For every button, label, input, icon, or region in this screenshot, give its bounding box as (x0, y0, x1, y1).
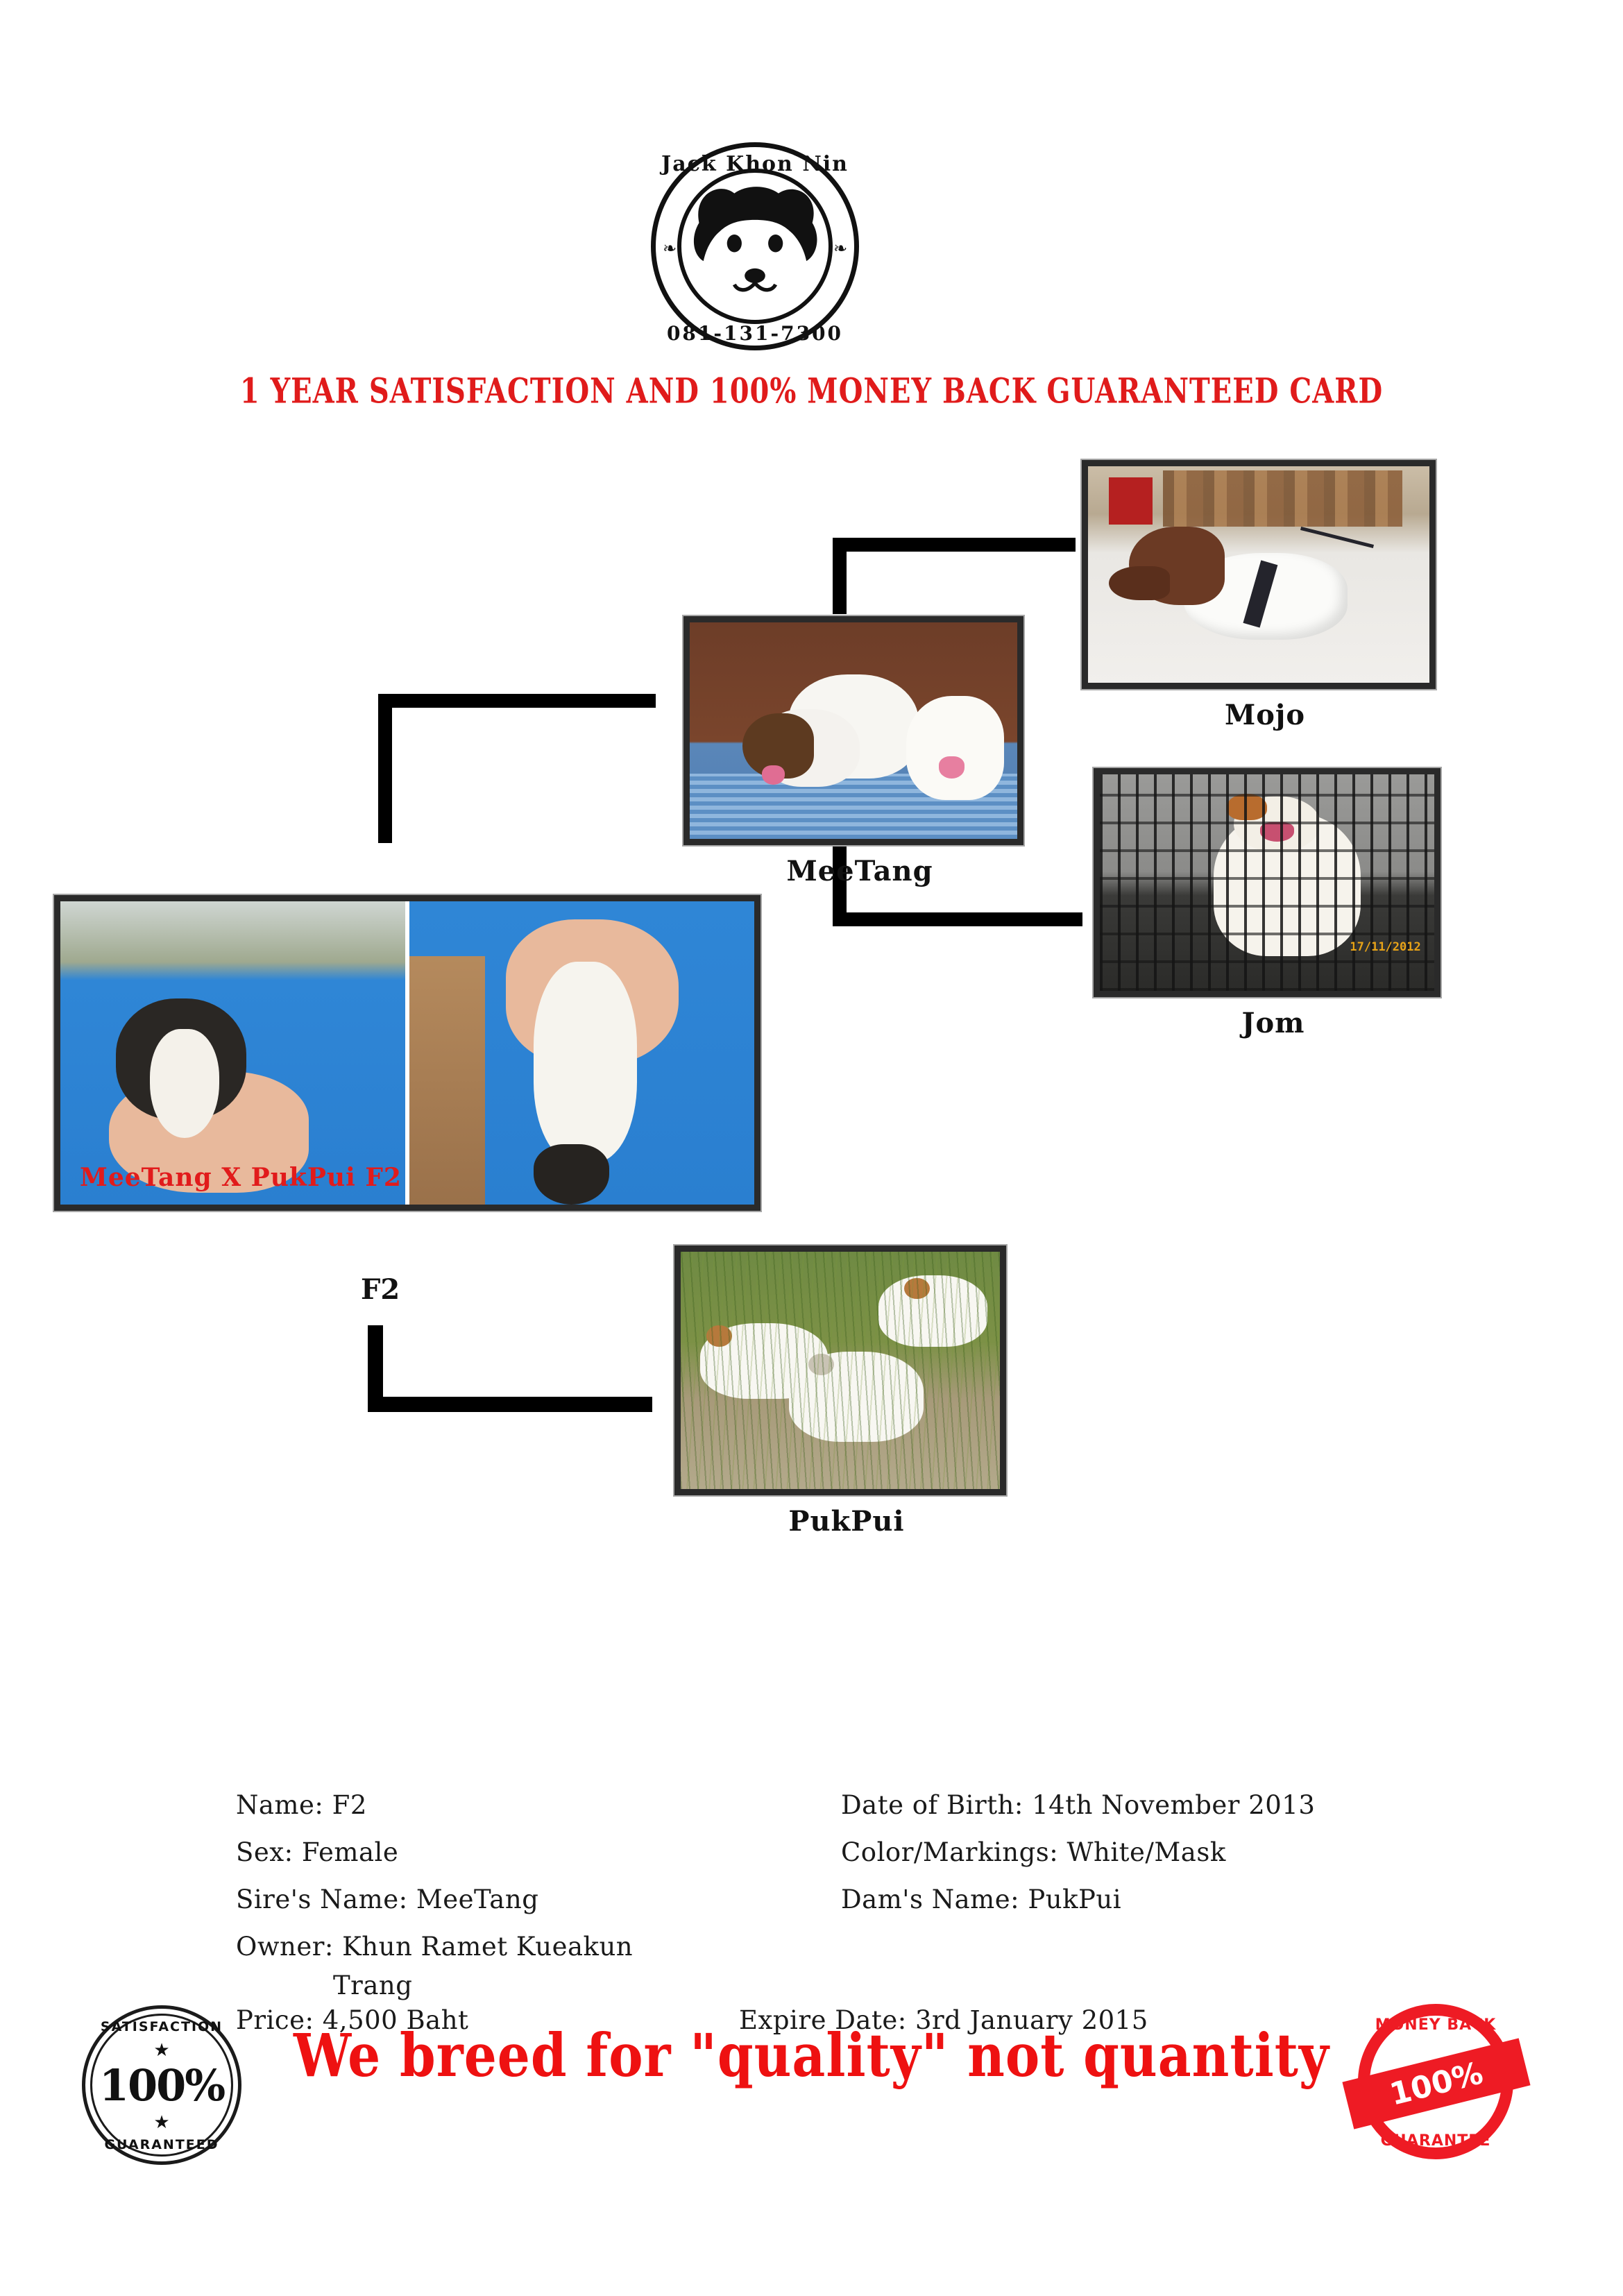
star-icon: ★ (153, 2114, 169, 2132)
f2-photo-panel-right (409, 901, 754, 1205)
f2-photo-panel-left (60, 901, 405, 1205)
dog-face-icon (681, 173, 829, 320)
kennel-logo: Jack Khon Nin 081-131-7300 ❧ ❧ (651, 142, 859, 350)
paw-print-icon: ❧ (661, 239, 679, 257)
detail-name: Name: F2 (236, 1790, 367, 1820)
detail-color-markings: Color/Markings: White/Mask (841, 1837, 1226, 1867)
connector-f2-to-meetang-horizontal (378, 694, 656, 708)
photo-caption-meetang: MeeTang (690, 855, 1030, 887)
detail-owner: Owner: Khun Ramet Kueakun (236, 1932, 633, 1962)
detail-date-of-birth: Date of Birth: 14th November 2013 (841, 1790, 1315, 1820)
detail-sire: Sire's Name: MeeTang (236, 1885, 538, 1914)
stamp-top-text: MONEY BACK (1352, 2016, 1519, 2034)
connector-meetang-to-mojo-vertical (833, 538, 847, 614)
photo-caption-pukpui: PukPui (681, 1505, 1012, 1538)
connector-meetang-to-jom-horizontal (833, 912, 1082, 926)
money-back-guarantee-stamp: MONEY BACK GUARANTEE 100% (1352, 1998, 1519, 2165)
photo-mojo: Mojo (1082, 460, 1436, 689)
photo-pukpui: PukPui (674, 1245, 1006, 1495)
connector-f2-to-meetang-vertical (378, 694, 392, 843)
logo-dog-portrait (677, 169, 833, 324)
photo-caption-mojo: Mojo (1088, 699, 1442, 731)
photo-caption-f2: F2 (361, 1273, 400, 1306)
photo-jom: 17/11/2012 Jom (1094, 768, 1441, 997)
connector-meetang-to-mojo-horizontal (833, 538, 1076, 552)
connector-f2-to-pukpui-horizontal (368, 1397, 652, 1412)
photo-overlay-label-f2: MeeTang X PukPui F2 (80, 1163, 402, 1192)
photo-datestamp-jom: 17/11/2012 (1350, 940, 1420, 954)
logo-phone-number: 081-131-7300 (651, 322, 859, 345)
page-title: 1 YEAR SATISFACTION AND 100% MONEY BACK … (0, 371, 1623, 411)
detail-dam: Dam's Name: PukPui (841, 1885, 1121, 1914)
photo-meetang: MeeTang (683, 616, 1023, 845)
pedigree-certificate-page: Jack Khon Nin 081-131-7300 ❧ ❧ 1 YEAR SA… (0, 0, 1623, 2296)
detail-sex: Sex: Female (236, 1837, 398, 1867)
stamp-bottom-text: GUARANTEE (1352, 2132, 1519, 2150)
paw-print-icon: ❧ (831, 239, 849, 257)
photo-caption-jom: Jom (1100, 1007, 1447, 1039)
stamp-bottom-text: GUARANTEED (82, 2137, 241, 2152)
photo-f2-puppy: MeeTang X PukPui F2 (54, 895, 760, 1211)
satisfaction-guarantee-stamp: SATISFACTION ★ 100% ★ GUARANTEED (82, 2005, 241, 2165)
detail-owner-city: Trang (333, 1971, 412, 2000)
